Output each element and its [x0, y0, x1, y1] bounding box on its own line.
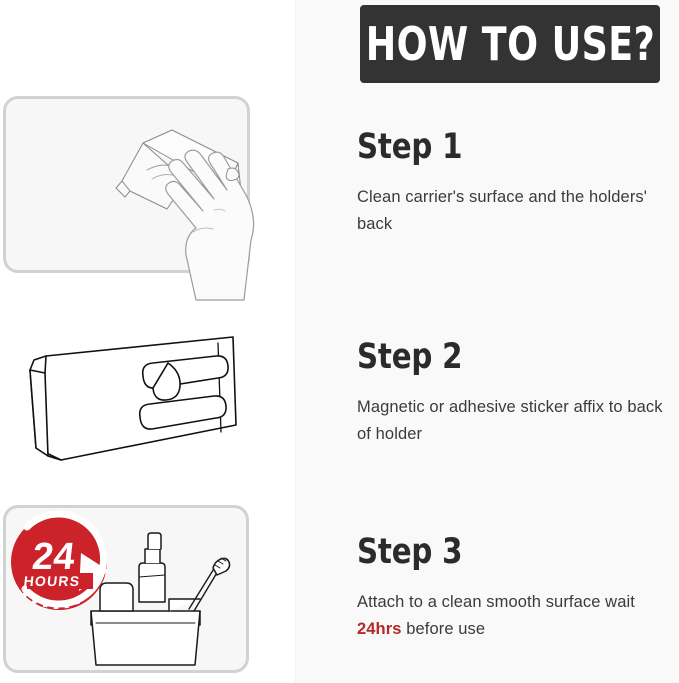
step-3-body-after: before use [402, 620, 486, 638]
how-to-use-infographic: HOW TO USE? [0, 0, 679, 683]
column-divider [295, 0, 296, 683]
step-2-body: Magnetic or adhesive sticker affix to ba… [357, 394, 672, 448]
step-1-text-block: Step 1 Clean carrier's surface and the h… [357, 128, 677, 238]
page-title: HOW TO USE? [365, 21, 654, 67]
step-3-heading: Step 3 [357, 533, 655, 572]
step-2-heading: Step 2 [357, 338, 655, 377]
step-3-body-before: Attach to a clean smooth surface wait [357, 593, 635, 611]
step-1-body: Clean carrier's surface and the holders'… [357, 184, 672, 238]
step-2-illustration-holder-adhesive [0, 325, 270, 475]
step-1-illustration-hand-wiping [0, 85, 270, 300]
badge-unit: HOURS [23, 573, 81, 589]
step-3-body: Attach to a clean smooth surface wait 24… [357, 589, 672, 643]
step-3-text-block: Step 3 Attach to a clean smooth surface … [357, 533, 677, 643]
step-1-heading: Step 1 [357, 128, 655, 167]
step-3-illustration-24h-badge-holder: 24 HOURS [3, 505, 249, 673]
step-2-text-block: Step 2 Magnetic or adhesive sticker affi… [357, 338, 677, 448]
header-banner: HOW TO USE? [360, 5, 660, 83]
badge-number: 24 [30, 536, 77, 578]
24-hours-badge: 24 HOURS [11, 514, 109, 610]
step-3-duration-highlight: 24hrs [357, 620, 402, 638]
